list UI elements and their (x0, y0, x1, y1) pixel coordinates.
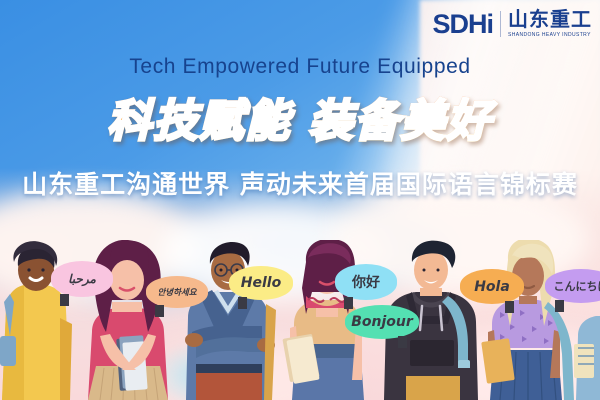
logo-divider (500, 11, 501, 37)
speech-bubble-english: Hello (229, 266, 293, 300)
speech-bubble-english-text: Hello (241, 275, 281, 291)
speech-bubble-korean-text: 안녕하세요 (157, 286, 196, 298)
headline-group: Tech Empowered Future Equipped 科技赋能 装备美好… (0, 55, 600, 201)
speech-bubble-korean: 안녕하세요 (146, 276, 208, 308)
logo-chinese-sub: SHANDONG HEAVY INDUSTRY (508, 33, 592, 38)
poster-banner: SDHi 山东重工 SHANDONG HEAVY INDUSTRY Tech E… (0, 0, 600, 400)
speech-bubble-japanese-text: こんにちは (554, 278, 600, 294)
speech-bubble-french: Bonjour (345, 305, 419, 339)
speech-bubble-spanish-text: Hola (474, 279, 510, 295)
speech-bubble-spanish: Hola (460, 269, 524, 304)
logo-chinese-name: 山东重工 SHANDONG HEAVY INDUSTRY (508, 10, 592, 38)
speech-bubble-arabic-text: مرحبا (68, 272, 96, 286)
person-7-partial (574, 316, 600, 400)
logo-chinese-main: 山东重工 (508, 10, 592, 30)
speech-bubble-chinese: 你好 (335, 264, 397, 300)
logo-wordmark: SDHi (432, 11, 493, 38)
speech-bubble-arabic: مرحبا (51, 261, 113, 297)
english-tagline: Tech Empowered Future Equipped (0, 55, 600, 79)
person-6 (481, 240, 574, 400)
chinese-subtitle: 山东重工沟通世界 声动未来首届国际语言锦标赛 (0, 165, 600, 201)
sdhi-logo: SDHi 山东重工 SHANDONG HEAVY INDUSTRY (432, 10, 592, 38)
speech-bubble-french-text: Bonjour (351, 314, 413, 330)
chinese-main-title: 科技赋能 装备美好 (0, 85, 600, 149)
speech-bubble-chinese-text: 你好 (352, 272, 380, 292)
